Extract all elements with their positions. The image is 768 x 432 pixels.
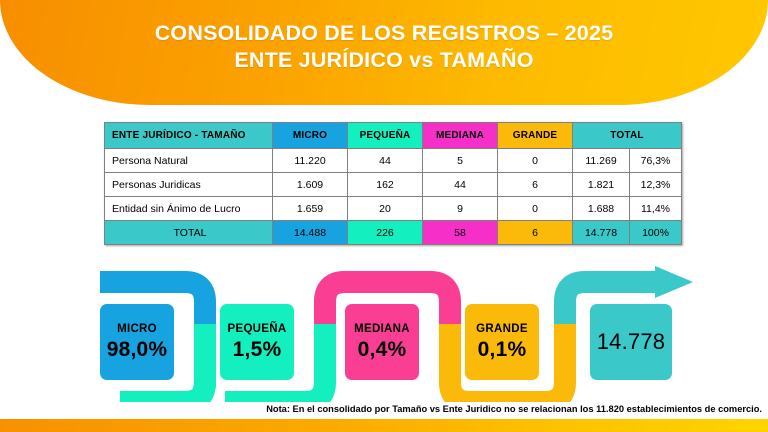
flow-step-value: 1,5%	[233, 338, 282, 362]
cell-pequena: 162	[348, 173, 423, 197]
flow-step-label: MICRO	[117, 323, 157, 335]
cell-micro: 11.220	[273, 149, 348, 173]
header-mediana: MEDIANA	[423, 123, 498, 149]
cell-total: 11.269	[573, 149, 630, 173]
total-total: 14.778	[573, 221, 630, 245]
total-grande: 6	[498, 221, 573, 245]
flow-diagram: MICRO 98,0% PEQUEÑA 1,5% MEDIANA 0,4% GR…	[0, 262, 768, 402]
consolidated-registry-table: ENTE JURÍDICO - TAMAÑO MICRO PEQUEÑA MED…	[104, 122, 682, 245]
header-micro: MICRO	[273, 123, 348, 149]
footer-note: Nota: En el consolidado por Tamaño vs En…	[0, 404, 768, 414]
flow-step-mediana[interactable]: MEDIANA 0,4%	[345, 304, 419, 380]
row-label: Personas Juridicas	[105, 173, 273, 197]
cell-pequena: 20	[348, 197, 423, 221]
flow-step-value: 0,1%	[478, 338, 527, 362]
cell-pequena: 44	[348, 149, 423, 173]
table-total-row: TOTAL 14.488 226 58 6 14.778 100%	[105, 221, 682, 245]
row-label: Entidad sin Ánimo de Lucro	[105, 197, 273, 221]
header-pequena: PEQUEÑA	[348, 123, 423, 149]
arrow-head-icon	[655, 266, 693, 298]
cell-grande: 6	[498, 173, 573, 197]
flow-step-grande[interactable]: GRANDE 0,1%	[465, 304, 539, 380]
total-mediana: 58	[423, 221, 498, 245]
cell-mediana: 9	[423, 197, 498, 221]
flow-step-label: PEQUEÑA	[228, 323, 287, 335]
flow-step-micro[interactable]: MICRO 98,0%	[100, 304, 174, 380]
cell-micro: 1.609	[273, 173, 348, 197]
header-ente-juridico-tamano: ENTE JURÍDICO - TAMAÑO	[105, 123, 273, 149]
table-row: Persona Natural 11.220 44 5 0 11.269 76,…	[105, 149, 682, 173]
total-pequena: 226	[348, 221, 423, 245]
total-row-label: TOTAL	[105, 221, 273, 245]
table-row: Personas Juridicas 1.609 162 44 6 1.821 …	[105, 173, 682, 197]
flow-result-total[interactable]: 14.778	[590, 304, 672, 380]
header-grande: GRANDE	[498, 123, 573, 149]
flow-result-value: 14.778	[597, 329, 666, 355]
flow-step-value: 98,0%	[107, 338, 168, 362]
page-title-line2: ENTE JURÍDICO vs TAMAÑO	[0, 47, 768, 74]
cell-micro: 1.659	[273, 197, 348, 221]
flow-step-value: 0,4%	[358, 338, 407, 362]
cell-grande: 0	[498, 149, 573, 173]
table-header-row: ENTE JURÍDICO - TAMAÑO MICRO PEQUEÑA MED…	[105, 123, 682, 149]
cell-percent: 76,3%	[630, 149, 682, 173]
total-micro: 14.488	[273, 221, 348, 245]
header-total: TOTAL	[573, 123, 682, 149]
footer-gradient-bar	[0, 419, 768, 432]
page-title: CONSOLIDADO DE LOS REGISTROS – 2025 ENTE…	[0, 20, 768, 74]
cell-mediana: 5	[423, 149, 498, 173]
flow-step-label: MEDIANA	[354, 323, 410, 335]
row-label: Persona Natural	[105, 149, 273, 173]
cell-percent: 12,3%	[630, 173, 682, 197]
table-row: Entidad sin Ánimo de Lucro 1.659 20 9 0 …	[105, 197, 682, 221]
cell-total: 1.688	[573, 197, 630, 221]
flow-step-pequena[interactable]: PEQUEÑA 1,5%	[220, 304, 294, 380]
cell-mediana: 44	[423, 173, 498, 197]
cell-percent: 11,4%	[630, 197, 682, 221]
cell-grande: 0	[498, 197, 573, 221]
flow-step-label: GRANDE	[476, 323, 528, 335]
total-percent: 100%	[630, 221, 682, 245]
cell-total: 1.821	[573, 173, 630, 197]
page-title-line1: CONSOLIDADO DE LOS REGISTROS – 2025	[155, 21, 614, 45]
